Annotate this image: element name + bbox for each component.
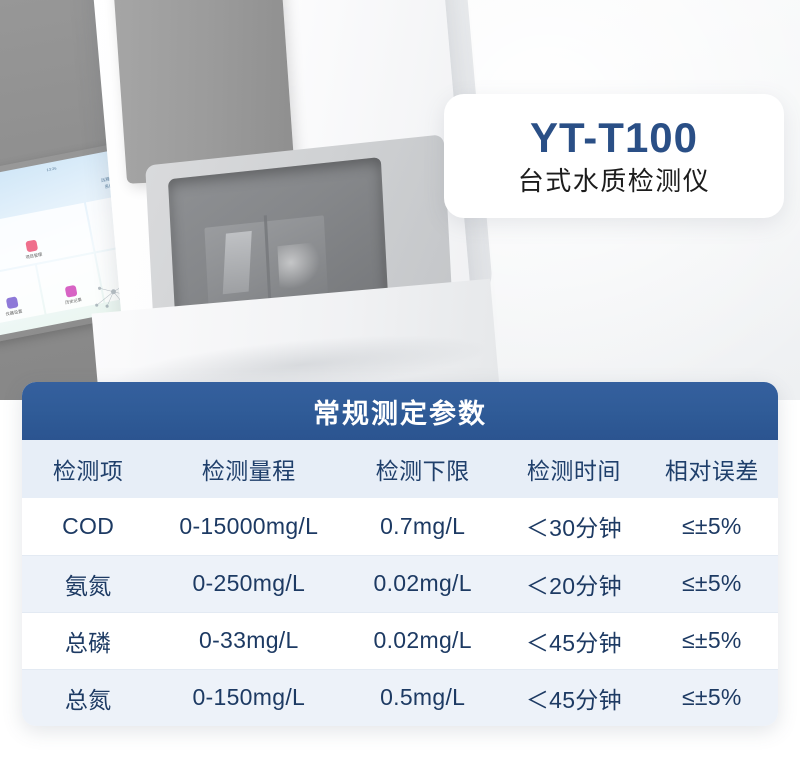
cuvette-divider	[264, 215, 272, 307]
product-spec-page: 2023-02-06 13:26 远程平台/ 系统设置 项目管理 数据查询	[0, 0, 800, 776]
cell-range: 0-250mg/L	[154, 555, 343, 612]
screen-tile-label: 项目管理	[25, 252, 43, 261]
column-header-item: 检测项	[22, 440, 154, 498]
history-record-icon	[65, 285, 78, 298]
spec-table: 检测项 检测量程 检测下限 检测时间 相对误差 COD 0-15000mg/L …	[22, 440, 778, 726]
cell-limit: 0.02mg/L	[343, 555, 502, 612]
project-management-icon	[25, 239, 38, 252]
cell-time: ＜20分钟	[502, 555, 646, 612]
cell-error: ≤±5%	[646, 555, 778, 612]
instrument-settings-icon	[6, 296, 19, 309]
table-row: 总磷 0-33mg/L 0.02mg/L ＜45分钟 ≤±5%	[22, 612, 778, 669]
column-header-range: 检测量程	[154, 440, 343, 498]
cell-error: ≤±5%	[646, 669, 778, 726]
table-row: 总氮 0-150mg/L 0.5mg/L ＜45分钟 ≤±5%	[22, 669, 778, 726]
cell-item: COD	[22, 498, 154, 555]
cell-error: ≤±5%	[646, 612, 778, 669]
screen-tile-label: 仪器设置	[5, 309, 23, 318]
column-header-limit: 检测下限	[343, 440, 502, 498]
cell-range: 0-33mg/L	[154, 612, 343, 669]
table-row: COD 0-15000mg/L 0.7mg/L ＜30分钟 ≤±5%	[22, 498, 778, 555]
cell-time: ＜45分钟	[502, 669, 646, 726]
cell-limit: 0.7mg/L	[343, 498, 502, 555]
cell-item: 总氮	[22, 669, 154, 726]
table-row: 氨氮 0-250mg/L 0.02mg/L ＜20分钟 ≤±5%	[22, 555, 778, 612]
cuvette-slot	[223, 231, 252, 294]
spec-table-header: 常规测定参数	[22, 382, 778, 440]
cell-range: 0-150mg/L	[154, 669, 343, 726]
cell-time: ＜30分钟	[502, 498, 646, 555]
column-header-error: 相对误差	[646, 440, 778, 498]
cell-item: 总磷	[22, 612, 154, 669]
cell-item: 氨氮	[22, 555, 154, 612]
cell-limit: 0.5mg/L	[343, 669, 502, 726]
table-header-row: 检测项 检测量程 检测下限 检测时间 相对误差	[22, 440, 778, 498]
cell-limit: 0.02mg/L	[343, 612, 502, 669]
cell-range: 0-15000mg/L	[154, 498, 343, 555]
chamber-highlight	[277, 242, 321, 290]
product-title-card: YT-T100 台式水质检测仪	[444, 94, 784, 218]
spec-table-card: 常规测定参数 检测项 检测量程 检测下限 检测时间 相对误差 COD 0-150…	[22, 382, 778, 726]
screen-time: 13:26	[46, 166, 57, 172]
product-model: YT-T100	[530, 115, 698, 161]
cell-error: ≤±5%	[646, 498, 778, 555]
screen-tile-label: 历史记录	[65, 297, 83, 306]
cell-time: ＜45分钟	[502, 612, 646, 669]
column-header-time: 检测时间	[502, 440, 646, 498]
product-subtitle: 台式水质检测仪	[518, 167, 711, 197]
spec-table-title: 常规测定参数	[313, 392, 487, 431]
